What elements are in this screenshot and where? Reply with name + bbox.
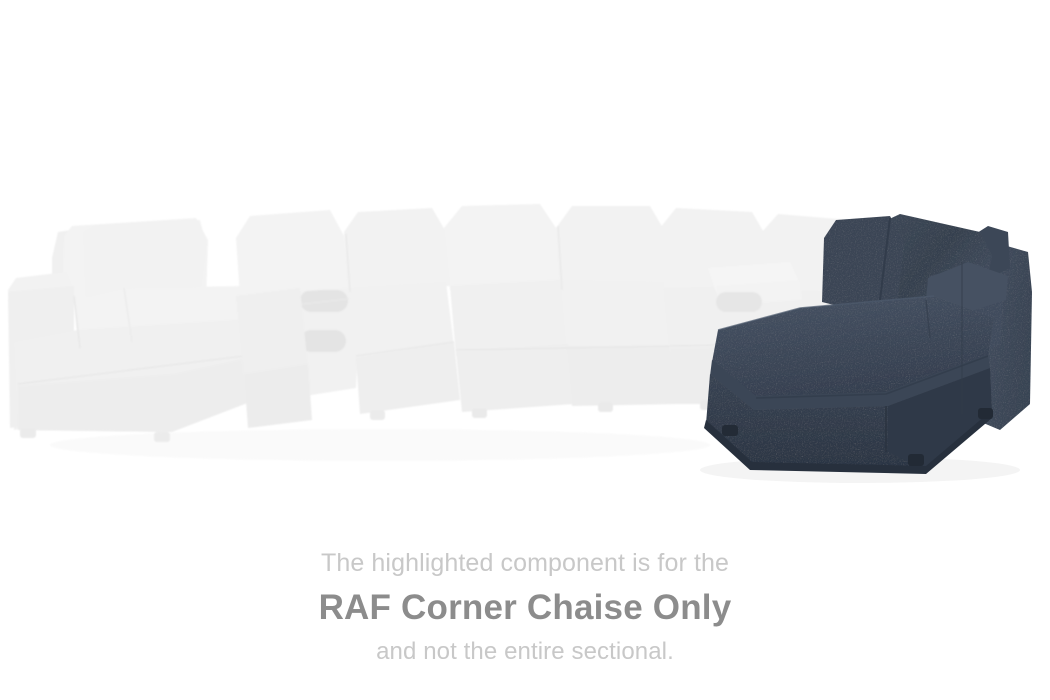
ghost-floor-shadow [50,429,710,461]
ghost-foot [370,410,385,420]
caption-block: The highlighted component is for the RAF… [0,548,1050,667]
chaise-foot [908,454,924,466]
ghost-foot [154,432,170,442]
caption-line-3: and not the entire sectional. [0,637,1050,667]
ghost-foot [20,428,36,438]
ghost-front-cushion [236,288,312,428]
ghost-cupholder [300,330,346,352]
ghost-wedge-corner [444,204,676,418]
ghost-foot [472,408,487,418]
ghost-cupholder [300,290,348,312]
sectional-sofa-svg: Modular sectional sofa with the right-ar… [0,0,1050,520]
ghost-foot [598,402,613,412]
chaise-back-cushion-left [822,216,904,312]
chaise-foot [722,425,738,436]
caption-line-1: The highlighted component is for the [0,548,1050,578]
caption-line-2-component-name: RAF Corner Chaise Only [0,587,1050,629]
chaise-foot [978,408,993,419]
product-highlight-image: Modular sectional sofa with the right-ar… [0,0,1050,700]
ghost-cupholder [716,292,762,312]
sectional-sofa-illustration: Modular sectional sofa with the right-ar… [0,0,1050,520]
